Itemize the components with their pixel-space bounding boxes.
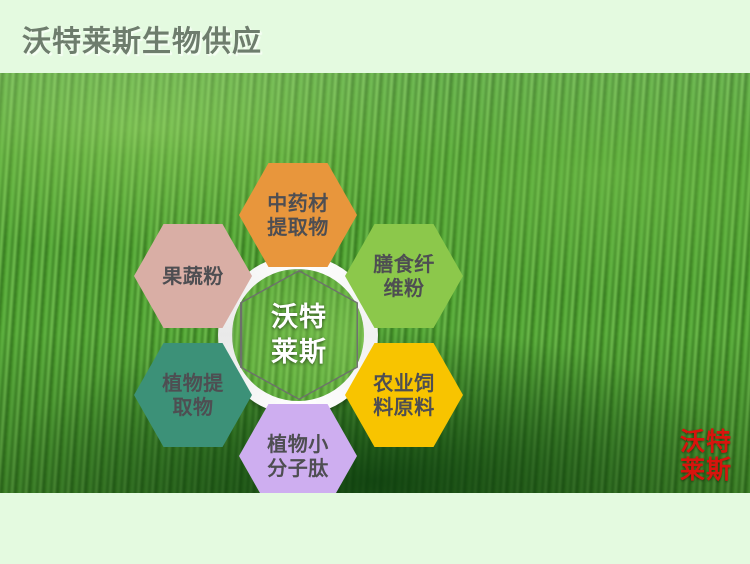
- hero-photo: 中药材 提取物 膳食纤 维粉 农业饲 料原料 植物小 分子肽 植物提 取物 果蔬…: [0, 73, 750, 493]
- hexagon-label-agricultural-feed-material: 农业饲 料原料: [373, 371, 435, 420]
- header-bar: 沃特莱斯生物供应: [0, 0, 750, 73]
- brand-watermark-logo: 沃特 莱斯: [680, 428, 732, 483]
- page-title: 沃特莱斯生物供应: [22, 18, 262, 60]
- slide-page: 沃特莱斯生物供应 中药材 提取物 膳食纤 维粉 农业饲 料原料 植: [0, 0, 750, 564]
- hexagon-plant-peptide[interactable]: 植物小 分子肽: [239, 404, 357, 493]
- footer-area: [0, 493, 750, 564]
- hexagon-cluster: 中药材 提取物 膳食纤 维粉 农业饲 料原料 植物小 分子肽 植物提 取物 果蔬…: [130, 155, 470, 493]
- hexagon-label-plant-extract: 植物提 取物: [162, 371, 224, 420]
- hexagon-label-fruit-vegetable-powder: 果蔬粉: [162, 264, 224, 288]
- center-hexagon[interactable]: 沃特 莱斯: [240, 270, 358, 400]
- hexagon-tcm-extract[interactable]: 中药材 提取物: [239, 163, 357, 267]
- hexagon-label-tcm-extract: 中药材 提取物: [267, 191, 329, 240]
- brand-name-center: 沃特 莱斯: [271, 300, 327, 370]
- hexagon-label-plant-peptide: 植物小 分子肽: [267, 432, 329, 481]
- hexagon-label-dietary-fiber-powder: 膳食纤 维粉: [373, 252, 435, 301]
